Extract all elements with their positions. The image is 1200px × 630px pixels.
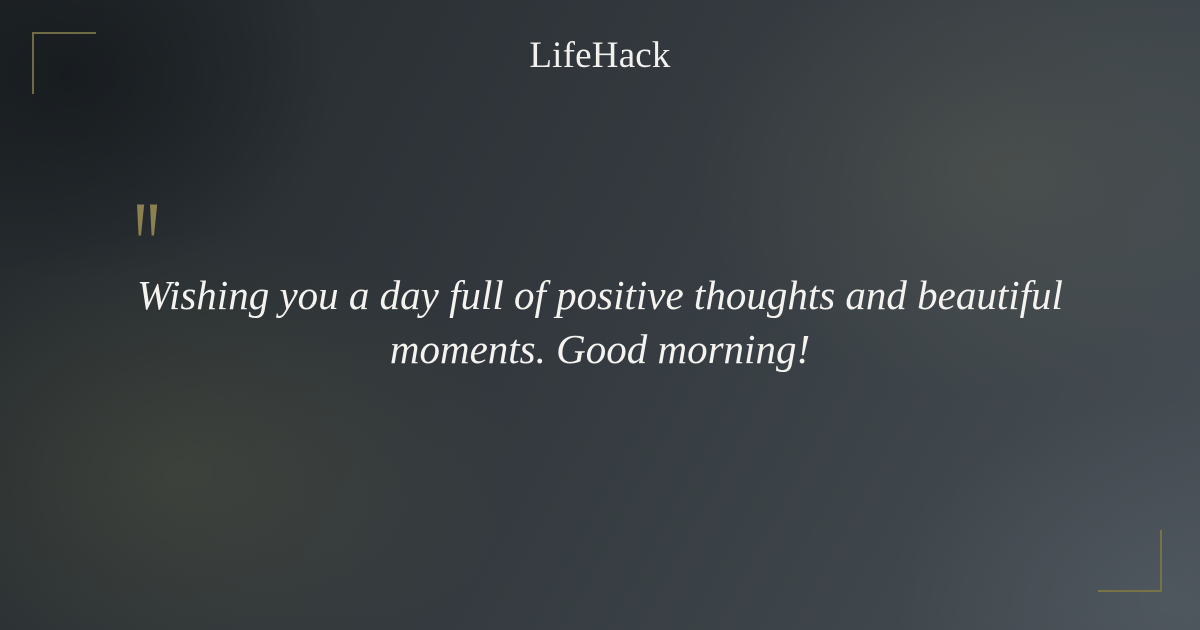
- corner-bracket-bottom-right: [1098, 530, 1162, 592]
- double-quote-icon: [134, 203, 174, 243]
- corner-bracket-top-left: [32, 32, 96, 94]
- quote-line-2: moments. Good morning!: [390, 326, 810, 372]
- quote-card: LifeHack Wishing you a day full of posit…: [0, 0, 1200, 630]
- quote-line-1: Wishing you a day full of positive thoug…: [137, 272, 1063, 318]
- brand-logo: LifeHack: [0, 37, 1200, 74]
- card-content: LifeHack Wishing you a day full of posit…: [0, 0, 1200, 630]
- quote-text: Wishing you a day full of positive thoug…: [110, 268, 1090, 376]
